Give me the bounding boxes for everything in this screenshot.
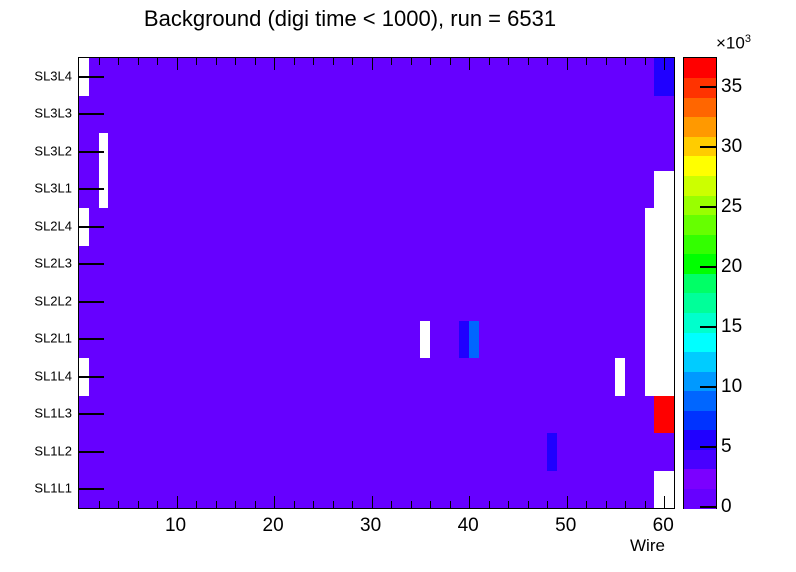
y-axis-tick-label: SL3L3 <box>4 106 72 121</box>
x-axis-minor-tick <box>528 501 529 508</box>
heatmap-cell[interactable] <box>645 246 674 284</box>
color-scale-tick-label: 35 <box>721 76 742 98</box>
color-scale-band <box>684 97 716 117</box>
y-axis-tick <box>79 226 104 228</box>
x-axis-major-tick <box>664 496 665 508</box>
x-axis-top-tick <box>625 58 626 65</box>
x-axis-tick-label: 50 <box>555 515 576 537</box>
color-scale-band <box>684 117 716 137</box>
x-axis-top-tick <box>411 58 412 65</box>
color-scale-exponent: ×103 <box>716 33 751 54</box>
color-scale-band <box>684 58 716 78</box>
x-axis-top-tick <box>118 58 119 65</box>
heatmap-cell[interactable] <box>469 321 479 359</box>
heatmap-layer[interactable] <box>79 58 674 508</box>
y-axis-tick <box>79 376 104 378</box>
x-axis-top-tick <box>489 58 490 65</box>
x-axis-minor-tick <box>411 501 412 508</box>
x-axis-minor-tick <box>99 501 100 508</box>
x-axis-top-tick <box>255 58 256 65</box>
color-scale-band <box>684 449 716 469</box>
color-scale-tick-label: 25 <box>721 196 742 218</box>
color-scale-band <box>684 175 716 195</box>
x-axis-minor-tick <box>157 501 158 508</box>
color-scale-band <box>684 469 716 489</box>
x-axis-title: Wire <box>630 536 665 556</box>
color-scale-tick-label: 0 <box>721 496 732 518</box>
x-axis-top-tick <box>606 58 607 65</box>
x-axis-top-tick <box>352 58 353 65</box>
x-axis-major-tick <box>469 496 470 508</box>
x-axis-top-tick <box>391 58 392 65</box>
x-axis-minor-tick <box>391 501 392 508</box>
x-axis-minor-tick <box>138 501 139 508</box>
x-axis-tick-label: 60 <box>653 515 674 537</box>
color-scale-tick-label: 15 <box>721 316 742 338</box>
x-axis-top-tick <box>313 58 314 65</box>
color-scale-band <box>684 156 716 176</box>
x-axis-top-tick <box>196 58 197 65</box>
y-axis-tick-label: SL1L3 <box>4 406 72 421</box>
x-axis-top-tick <box>157 58 158 65</box>
heatmap-cell[interactable] <box>547 433 557 471</box>
color-scale-tick-label: 5 <box>721 436 732 458</box>
x-axis-top-tick <box>508 58 509 65</box>
y-axis-tick <box>79 338 104 340</box>
color-scale-band <box>684 312 716 332</box>
x-axis-top-tick <box>333 58 334 65</box>
x-axis-major-tick <box>372 496 373 508</box>
heatmap-cell[interactable] <box>645 208 674 246</box>
x-axis-tick-label: 10 <box>165 515 186 537</box>
x-axis-top-tick <box>274 58 275 70</box>
y-axis-tick-label: SL1L2 <box>4 443 72 458</box>
y-axis-tick-label: SL1L1 <box>4 481 72 496</box>
color-scale-tick <box>700 326 716 328</box>
color-scale-band <box>684 254 716 274</box>
color-scale-band <box>684 371 716 391</box>
x-axis-minor-tick <box>216 501 217 508</box>
color-scale-exponent-base: ×10 <box>716 34 745 53</box>
x-axis-top-tick <box>138 58 139 65</box>
color-scale-band <box>684 215 716 235</box>
x-axis-top-tick <box>567 58 568 70</box>
x-axis-tick-label: 30 <box>360 515 381 537</box>
y-axis-tick-label: SL1L4 <box>4 368 72 383</box>
heatmap-cell[interactable] <box>645 321 674 359</box>
y-axis-tick-label: SL3L4 <box>4 68 72 83</box>
y-axis-tick <box>79 301 104 303</box>
heatmap-cell[interactable] <box>654 171 674 209</box>
color-scale-tick-label: 20 <box>721 256 742 278</box>
plot-frame[interactable] <box>78 57 675 509</box>
x-axis-top-tick <box>450 58 451 65</box>
x-axis-minor-tick <box>586 501 587 508</box>
color-scale-tick-label: 10 <box>721 376 742 398</box>
heatmap-cell[interactable] <box>420 321 430 359</box>
x-axis-minor-tick <box>333 501 334 508</box>
color-scale-tick <box>700 206 716 208</box>
x-axis-top-tick <box>664 58 665 70</box>
x-axis-minor-tick <box>196 501 197 508</box>
x-axis-top-tick <box>528 58 529 65</box>
color-scale-band <box>684 234 716 254</box>
color-scale-tick <box>700 146 716 148</box>
color-scale-band <box>684 332 716 352</box>
y-axis-tick <box>79 451 104 453</box>
color-scale-band <box>684 410 716 430</box>
x-axis-minor-tick <box>547 501 548 508</box>
color-scale-band <box>684 293 716 313</box>
x-axis-tick-label: 40 <box>458 515 479 537</box>
x-axis-minor-tick <box>450 501 451 508</box>
x-axis-minor-tick <box>489 501 490 508</box>
x-axis-top-tick <box>469 58 470 70</box>
root-canvas: Background (digi time < 1000), run = 653… <box>0 0 796 572</box>
chart-title: Background (digi time < 1000), run = 653… <box>0 6 700 32</box>
heatmap-cell[interactable] <box>459 321 469 359</box>
color-scale-band <box>684 351 716 371</box>
x-axis-tick-label: 20 <box>263 515 284 537</box>
y-axis-tick-label: SL3L1 <box>4 181 72 196</box>
heatmap-baseline-fill <box>79 58 674 508</box>
color-scale-exponent-power: 3 <box>745 33 751 45</box>
x-axis-top-tick <box>235 58 236 65</box>
x-axis-minor-tick <box>352 501 353 508</box>
color-scale-tick <box>700 86 716 88</box>
x-axis-minor-tick <box>508 501 509 508</box>
x-axis-top-tick <box>586 58 587 65</box>
color-scale-band <box>684 391 716 411</box>
y-axis-tick <box>79 113 104 115</box>
x-axis-minor-tick <box>625 501 626 508</box>
x-axis-top-tick <box>430 58 431 65</box>
color-scale-tick <box>700 506 716 508</box>
y-axis-tick-label: SL2L1 <box>4 331 72 346</box>
color-scale-band <box>684 273 716 293</box>
y-axis-tick <box>79 76 104 78</box>
color-scale-bar[interactable] <box>683 57 717 509</box>
y-axis-tick-label: SL2L4 <box>4 218 72 233</box>
x-axis-top-tick <box>99 58 100 65</box>
x-axis-minor-tick <box>255 501 256 508</box>
y-axis-tick <box>79 413 104 415</box>
heatmap-cell[interactable] <box>645 358 674 396</box>
x-axis-major-tick <box>567 496 568 508</box>
color-scale-tick <box>700 266 716 268</box>
color-scale-tick-label: 30 <box>721 136 742 158</box>
x-axis-major-tick <box>274 496 275 508</box>
y-axis-tick <box>79 151 104 153</box>
y-axis-tick <box>79 188 104 190</box>
x-axis-minor-tick <box>645 501 646 508</box>
x-axis-major-tick <box>177 496 178 508</box>
x-axis-minor-tick <box>294 501 295 508</box>
y-axis-tick-label: SL2L3 <box>4 256 72 271</box>
x-axis-minor-tick <box>430 501 431 508</box>
heatmap-cell[interactable] <box>654 396 674 434</box>
x-axis-top-tick <box>177 58 178 70</box>
x-axis-minor-tick <box>235 501 236 508</box>
x-axis-minor-tick <box>313 501 314 508</box>
heatmap-cell[interactable] <box>645 283 674 321</box>
heatmap-cell[interactable] <box>615 358 625 396</box>
x-axis-top-tick <box>294 58 295 65</box>
x-axis-minor-tick <box>118 501 119 508</box>
y-axis-tick-label: SL3L2 <box>4 143 72 158</box>
y-axis-tick-label: SL2L2 <box>4 293 72 308</box>
y-axis-tick <box>79 263 104 265</box>
y-axis-tick <box>79 488 104 490</box>
x-axis-top-tick <box>216 58 217 65</box>
color-scale-tick <box>700 446 716 448</box>
x-axis-top-tick <box>372 58 373 70</box>
x-axis-top-tick <box>645 58 646 65</box>
x-axis-minor-tick <box>606 501 607 508</box>
color-scale-tick <box>700 386 716 388</box>
x-axis-top-tick <box>547 58 548 65</box>
